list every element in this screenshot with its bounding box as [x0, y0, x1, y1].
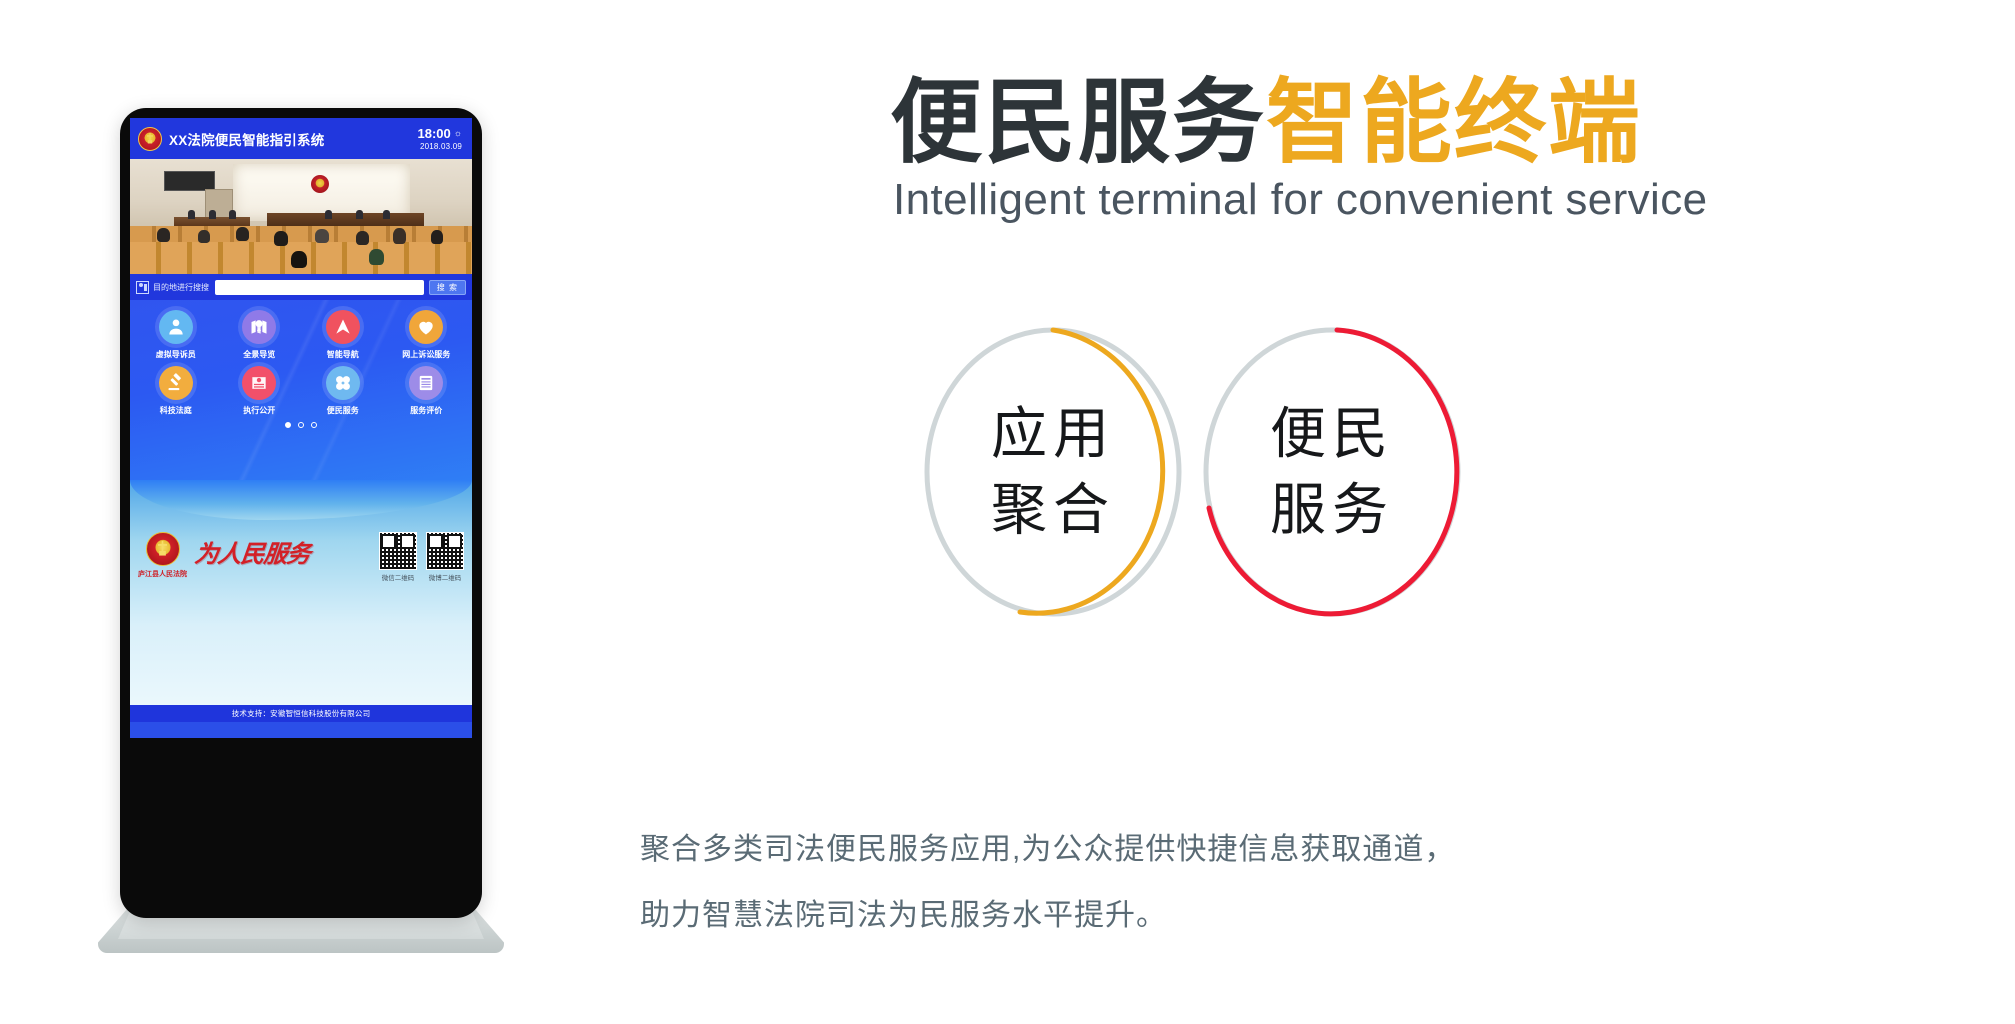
- app-row-2: 科技法庭 执行公开 便民服务: [134, 366, 468, 416]
- right-content-panel: 便民服务智能终端 Intelligent terminal for conven…: [640, 0, 2015, 1024]
- app-tile-label: 执行公开: [221, 405, 297, 416]
- page-root: XX法院便民智能指引系统 18:00 ☼ 2018.03.09: [0, 0, 2015, 1024]
- page-dot-3[interactable]: [311, 422, 317, 428]
- circle-left-line2: 聚合: [991, 482, 1115, 538]
- qr-item-weibo: 微博二维码: [426, 532, 464, 582]
- page-dot-1[interactable]: [285, 422, 291, 428]
- circle-right-line2: 服务: [1270, 482, 1394, 538]
- qr-caption: 微信二维码: [379, 572, 417, 582]
- kiosk-illustration: XX法院便民智能指引系统 18:00 ☼ 2018.03.09: [0, 0, 640, 1024]
- circle-convenient-service: 便民 服务: [1197, 322, 1467, 622]
- weibo-qr-icon: [426, 532, 464, 570]
- clock-time: 18:00: [418, 127, 451, 140]
- app-tile-tech-court[interactable]: 科技法庭: [138, 366, 214, 416]
- app-tile-label: 便民服务: [305, 405, 381, 416]
- slogan-text: 为人民服务: [193, 534, 312, 569]
- description-line-1: 聚合多类司法便民服务应用,为公众提供快捷信息获取通道，: [640, 835, 1960, 865]
- kiosk-screen: XX法院便民智能指引系统 18:00 ☼ 2018.03.09: [130, 118, 472, 738]
- headline: 便民服务智能终端: [890, 48, 1642, 181]
- app-tile-service-rating[interactable]: 服务评价: [388, 366, 464, 416]
- app-tile-label: 虚拟导诉员: [138, 349, 214, 360]
- circle-left-line1: 应用: [991, 406, 1115, 462]
- clock-date: 2018.03.09: [418, 142, 463, 151]
- app-tile-smart-nav[interactable]: 智能导航: [305, 310, 381, 360]
- page-dot-2[interactable]: [298, 422, 304, 428]
- app-header: XX法院便民智能指引系统 18:00 ☼ 2018.03.09: [130, 118, 472, 159]
- app-tile-virtual-guide[interactable]: 虚拟导诉员: [138, 310, 214, 360]
- navigation-arrow-icon: [326, 310, 360, 344]
- search-input[interactable]: [215, 280, 424, 295]
- rating-list-icon: [409, 366, 443, 400]
- court-name: 庐江县人民法院: [138, 569, 187, 579]
- destination-map-icon: [136, 281, 149, 294]
- wechat-qr-icon: [379, 532, 417, 570]
- court-logo-block: 庐江县人民法院: [138, 532, 187, 579]
- kiosk-device-body: XX法院便民智能指引系统 18:00 ☼ 2018.03.09: [120, 108, 482, 918]
- subheadline: Intelligent terminal for convenient serv…: [893, 175, 1708, 225]
- circle-right-text: 便民 服务: [1197, 322, 1467, 622]
- page-title: XX法院便民智能指引系统: [169, 129, 324, 149]
- gavel-icon: [159, 366, 193, 400]
- search-button[interactable]: 搜 索: [429, 280, 466, 295]
- app-tile-online-litigation[interactable]: 网上诉讼服务: [388, 310, 464, 360]
- app-tile-label: 服务评价: [388, 405, 464, 416]
- courtroom-photo: [130, 159, 472, 274]
- qr-block: 微信二维码 微博二维码: [379, 532, 464, 582]
- circle-left-text: 应用 聚合: [918, 322, 1188, 622]
- circle-right-line1: 便民: [1270, 406, 1394, 462]
- header-clock: 18:00 ☼ 2018.03.09: [418, 127, 465, 151]
- user-avatar-icon: [159, 310, 193, 344]
- headline-dark: 便民服务: [890, 72, 1266, 174]
- wave-decoration: [130, 480, 472, 520]
- app-grid: 虚拟导诉员 全景导览 智能导航: [130, 300, 472, 480]
- app-tile-label: 科技法庭: [138, 405, 214, 416]
- app-tile-label: 智能导航: [305, 349, 381, 360]
- app-row-1: 虚拟导诉员 全景导览 智能导航: [134, 310, 468, 360]
- app-tile-label: 网上诉讼服务: [388, 349, 464, 360]
- app-tile-label: 全景导览: [221, 349, 297, 360]
- search-bar[interactable]: 目的地进行搜搜 搜 索: [130, 274, 472, 300]
- qr-item-wechat: 微信二维码: [379, 532, 417, 582]
- circle-app-aggregation: 应用 聚合: [918, 322, 1188, 622]
- court-emblem-icon: [146, 532, 180, 566]
- search-label: 目的地进行搜搜: [153, 282, 209, 293]
- app-tile-convenient-service[interactable]: 便民服务: [305, 366, 381, 416]
- description-block: 聚合多类司法便民服务应用,为公众提供快捷信息获取通道， 助力智慧法院司法为民服务…: [640, 835, 1960, 967]
- screen-footer: 庐江县人民法院 为人民服务 微信二维码 微博二维码: [130, 480, 472, 722]
- court-emblem-icon: [138, 127, 162, 151]
- headline-gold: 智能终端: [1266, 72, 1642, 174]
- qr-caption: 微博二维码: [426, 572, 464, 582]
- app-tile-panorama[interactable]: 全景导览: [221, 310, 297, 360]
- app-tile-execution-disclosure[interactable]: 执行公开: [221, 366, 297, 416]
- page-indicator[interactable]: [134, 422, 468, 428]
- document-seal-icon: [242, 366, 276, 400]
- heart-icon: [409, 310, 443, 344]
- tech-support-bar: 技术支持：安徽智恒信科技股份有限公司: [130, 705, 472, 722]
- description-line-2: 助力智慧法院司法为民服务水平提升。: [640, 901, 1960, 931]
- four-petal-icon: [326, 366, 360, 400]
- map-pin-icon: [242, 310, 276, 344]
- sun-icon: ☼: [454, 128, 462, 138]
